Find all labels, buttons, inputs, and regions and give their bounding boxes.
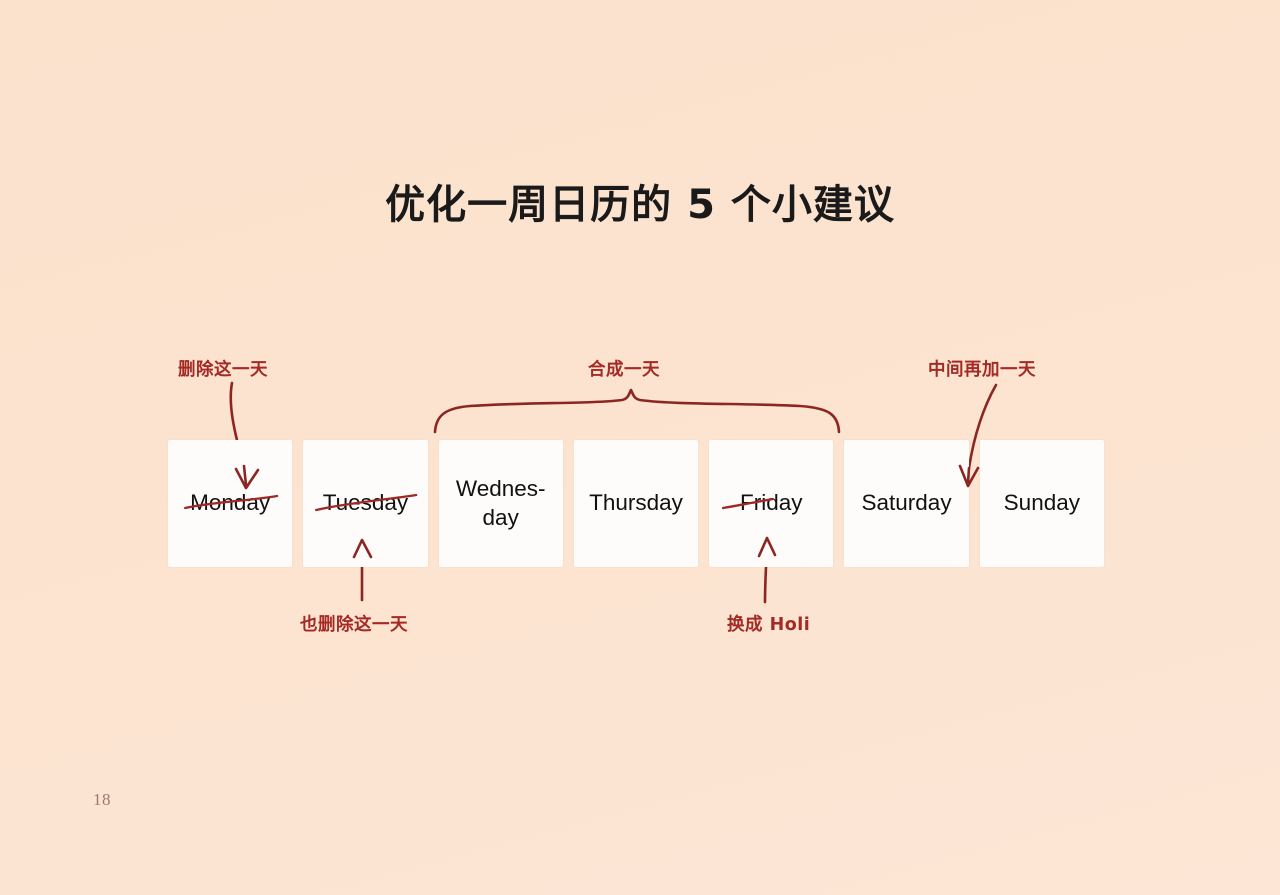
annotation-merge-days-label: 合成一天: [588, 356, 660, 381]
day-label-saturday: Saturday: [862, 489, 952, 518]
day-label-tuesday: Tuesday: [323, 489, 408, 518]
day-card-wednesday[interactable]: Wednes- day: [439, 440, 563, 567]
day-card-thursday[interactable]: Thursday: [574, 440, 698, 567]
day-card-friday[interactable]: Friday: [709, 440, 833, 567]
day-label-friday: Friday: [740, 489, 803, 518]
annotation-replace-holi-label: 换成 Holi: [727, 611, 810, 636]
annotation-delete-tuesday-label: 也删除这一天: [300, 611, 408, 636]
page-title: 优化一周日历的 5 个小建议: [0, 172, 1280, 230]
day-card-tuesday[interactable]: Tuesday: [303, 440, 427, 567]
annotation-delete-monday-label: 删除这一天: [178, 356, 268, 381]
day-label-monday: Monday: [190, 489, 270, 518]
day-card-saturday[interactable]: Saturday: [844, 440, 968, 567]
day-label-thursday: Thursday: [589, 489, 683, 518]
slide-canvas: 优化一周日历的 5 个小建议 删除这一天 合成一天 中间再加一天 也删除这一天 …: [0, 0, 1280, 895]
week-card-strip: Monday Tuesday Wednes- day Thursday Frid…: [168, 440, 1104, 567]
day-label-sunday: Sunday: [1004, 489, 1080, 518]
day-label-wednesday: Wednes- day: [456, 475, 546, 533]
day-card-sunday[interactable]: Sunday: [980, 440, 1104, 567]
page-number: 18: [93, 790, 111, 810]
brace-merge-days: [435, 390, 839, 432]
annotation-add-middle-label: 中间再加一天: [928, 356, 1036, 381]
day-card-monday[interactable]: Monday: [168, 440, 292, 567]
